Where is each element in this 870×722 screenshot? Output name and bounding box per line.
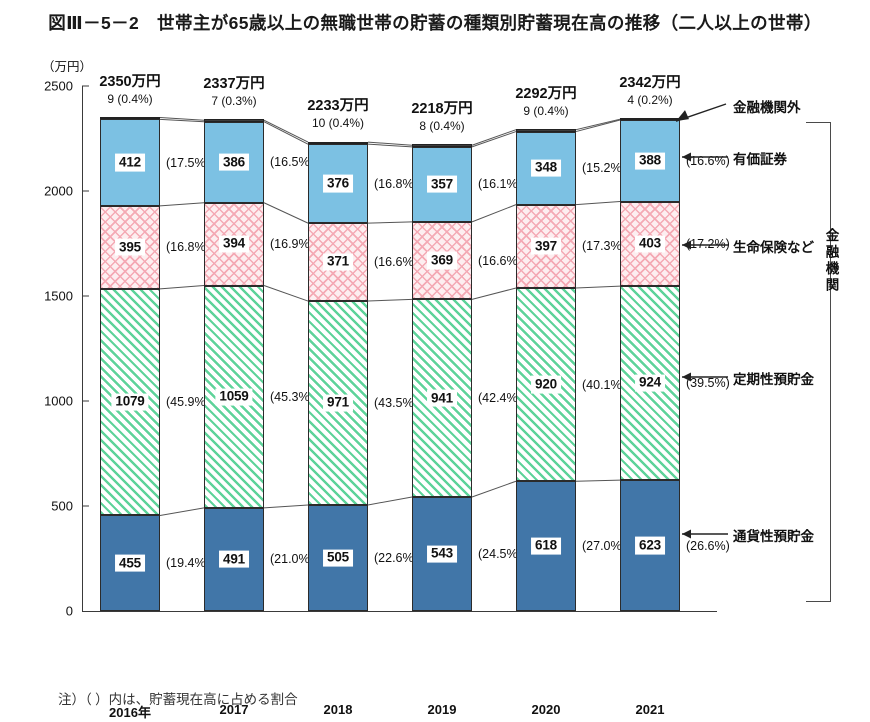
bar-value-insurance-2021: 403 [635, 235, 665, 252]
bar-segment-outside-2020 [516, 129, 576, 132]
callout-insurance: 生命保険など [733, 236, 814, 256]
bar-value-time_deposit-2019: 941 [427, 390, 457, 407]
bar-segment-outside-2016年 [100, 117, 160, 120]
bar-group-2020: 618(27.0%)920(40.1%)397(17.3%)348(15.2%)… [516, 86, 576, 611]
bar-value-demand_deposit-2016年: 455 [115, 555, 145, 572]
y-axis-tick-mark [82, 86, 89, 87]
financial-institution-bracket [806, 122, 831, 602]
bar-value-securities-2016年: 412 [115, 154, 145, 171]
plot-area: 25002000150010005000455(19.4%)1079(45.9%… [82, 86, 702, 611]
callout-demand-deposit: 通貨性預貯金 [733, 525, 814, 545]
bar-group-2016年: 455(19.4%)1079(45.9%)395(16.8%)412(17.5%… [100, 86, 160, 611]
bar-percent-time_deposit-2021: (39.5%) [686, 376, 730, 390]
bar-outside-label-2016年: 9 (0.4%) [107, 92, 152, 106]
bar-total-2021: 2342万円 [619, 71, 680, 92]
y-axis-unit-label: （万円） [42, 56, 92, 75]
x-axis-line [82, 611, 717, 612]
bar-value-insurance-2017: 394 [219, 236, 249, 253]
y-axis-tick-2000: 2000 [44, 184, 82, 199]
bar-group-2018: 505(22.6%)971(43.5%)371(16.6%)376(16.8%)… [308, 86, 368, 611]
bar-segment-outside-2019 [412, 144, 472, 147]
callout-securities: 有価証券 [733, 148, 787, 168]
y-axis-tick-2500: 2500 [44, 79, 82, 94]
bar-percent-securities-2021: (16.6%) [686, 154, 730, 168]
bar-value-insurance-2016年: 395 [115, 239, 145, 256]
bar-value-securities-2021: 388 [635, 152, 665, 169]
bar-outside-label-2017: 7 (0.3%) [211, 94, 256, 108]
y-axis-tick-mark [82, 191, 89, 192]
x-axis-label-2021: 2021 [636, 702, 665, 717]
x-axis-label-2018: 2018 [324, 702, 353, 717]
y-axis-tick-500: 500 [51, 499, 82, 514]
bar-outside-label-2019: 8 (0.4%) [419, 119, 464, 133]
bar-value-securities-2018: 376 [323, 175, 353, 192]
bar-value-time_deposit-2017: 1059 [215, 388, 252, 405]
bar-value-demand_deposit-2018: 505 [323, 549, 353, 566]
bar-value-time_deposit-2016年: 1079 [111, 394, 148, 411]
chart-note: 注）（ ）内は、貯蓄現在高に占める割合 [58, 688, 298, 708]
y-axis-tick-mark [82, 401, 89, 402]
y-axis-tick-1500: 1500 [44, 289, 82, 304]
y-axis-tick-mark [82, 296, 89, 297]
bar-percent-demand_deposit-2021: (26.6%) [686, 539, 730, 553]
bar-value-time_deposit-2020: 920 [531, 376, 561, 393]
bar-total-2016年: 2350万円 [99, 70, 160, 91]
bar-group-2017: 491(21.0%)1059(45.3%)394(16.9%)386(16.5%… [204, 86, 264, 611]
y-axis-tick-1000: 1000 [44, 394, 82, 409]
bar-value-demand_deposit-2017: 491 [219, 551, 249, 568]
bar-segment-outside-2018 [308, 142, 368, 145]
bar-value-securities-2017: 386 [219, 154, 249, 171]
x-axis-label-2020: 2020 [532, 702, 561, 717]
bar-outside-label-2020: 9 (0.4%) [523, 104, 568, 118]
bar-outside-label-2018: 10 (0.4%) [312, 116, 364, 130]
bar-value-securities-2020: 348 [531, 160, 561, 177]
bar-total-2017: 2337万円 [203, 72, 264, 93]
bar-total-2019: 2218万円 [411, 97, 472, 118]
bar-value-demand_deposit-2021: 623 [635, 537, 665, 554]
chart-page: 図Ⅲ－5－2 世帯主が65歳以上の無職世帯の貯蓄の種類別貯蓄現在高の推移（二人以… [0, 0, 870, 722]
bracket-label-financial-institution: 金融機関 [824, 228, 838, 294]
bar-value-demand_deposit-2020: 618 [531, 538, 561, 555]
y-axis-tick-mark [82, 506, 89, 507]
callout-time-deposit: 定期性預貯金 [733, 368, 814, 388]
bar-value-insurance-2019: 369 [427, 252, 457, 269]
bar-value-securities-2019: 357 [427, 176, 457, 193]
bar-percent-insurance-2021: (17.2%) [686, 237, 730, 251]
x-axis-label-2019: 2019 [428, 702, 457, 717]
bar-total-2018: 2233万円 [307, 94, 368, 115]
callout-outside: 金融機関外 [733, 96, 801, 116]
bar-value-time_deposit-2021: 924 [635, 375, 665, 392]
page-title: 図Ⅲ－5－2 世帯主が65歳以上の無職世帯の貯蓄の種類別貯蓄現在高の推移（二人以… [0, 10, 870, 35]
bar-value-time_deposit-2018: 971 [323, 394, 353, 411]
bar-segment-outside-2021 [620, 118, 680, 121]
bar-group-2019: 543(24.5%)941(42.4%)369(16.6%)357(16.1%)… [412, 86, 472, 611]
bar-group-2021: 623(26.6%)924(39.5%)403(17.2%)388(16.6%)… [620, 86, 680, 611]
bar-value-demand_deposit-2019: 543 [427, 545, 457, 562]
bar-segment-outside-2017 [204, 119, 264, 122]
bar-outside-label-2021: 4 (0.2%) [627, 93, 672, 107]
bar-value-insurance-2020: 397 [531, 238, 561, 255]
y-axis-tick-0: 0 [66, 604, 82, 619]
bar-total-2020: 2292万円 [515, 82, 576, 103]
bar-value-insurance-2018: 371 [323, 254, 353, 271]
